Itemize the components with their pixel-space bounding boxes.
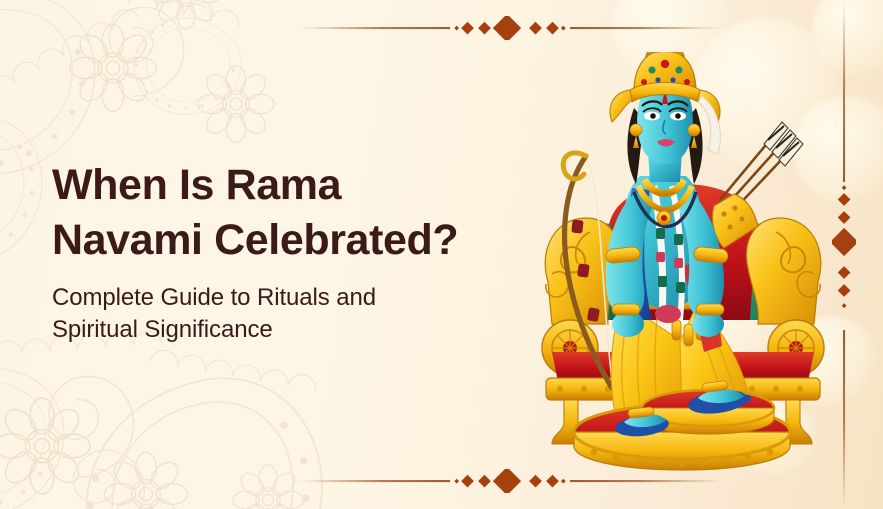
lord-rama-illustration — [512, 52, 852, 472]
top-divider-ornament — [298, 16, 722, 40]
throne-armrest-right — [746, 218, 820, 324]
wrist-bangle-right — [696, 304, 724, 315]
page-subtitle: Complete Guide to Rituals and Spiritual … — [52, 282, 522, 346]
wrist-bangle-left — [612, 304, 640, 315]
bottom-divider-ornament — [298, 469, 722, 493]
banner-root: When Is Rama Navami Celebrated? Complete… — [0, 0, 883, 509]
page-title: When Is Rama Navami Celebrated? — [52, 158, 522, 268]
text-block: When Is Rama Navami Celebrated? Complete… — [52, 158, 522, 346]
